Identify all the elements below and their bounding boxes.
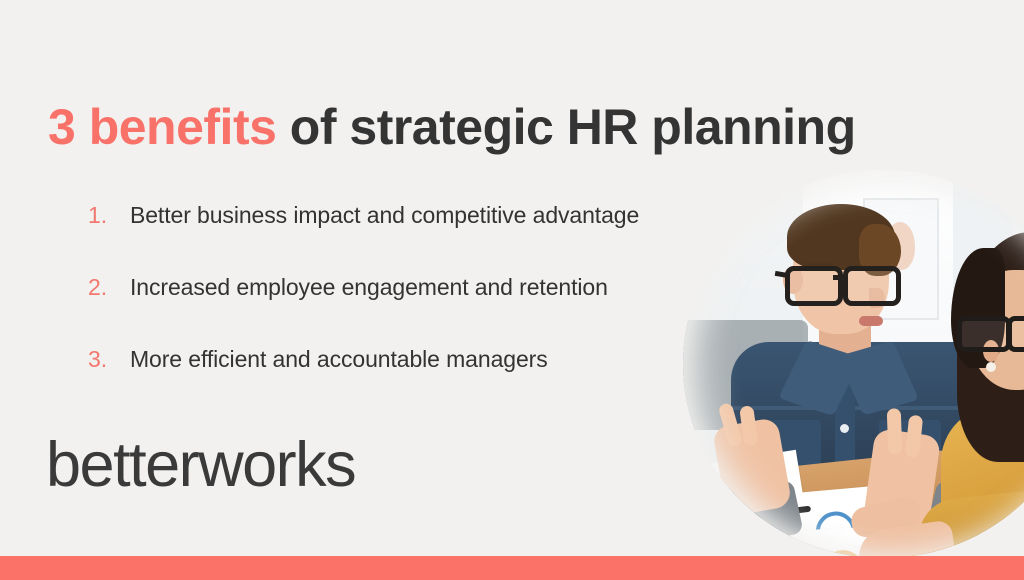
chart-bar [770,514,786,558]
chart-printout [791,521,981,558]
benefits-list: 1. Better business impact and competitiv… [48,202,639,418]
betterworks-wordmark-icon: betterworks [46,430,436,504]
list-item-label: Increased employee engagement and retent… [130,274,608,301]
chart-printout [717,485,901,558]
finger [905,415,923,458]
pen [739,506,811,521]
bottom-accent-bar [0,556,1024,580]
finger [718,402,744,448]
wall-picture-frame [863,198,939,320]
finger [739,405,758,447]
shirt-collar-right [837,340,919,415]
chart-printout [687,450,805,524]
glasses-lens-left [957,316,1011,352]
office-chair [873,385,993,515]
man-nose [869,288,885,308]
headline-plain: of strategic HR planning [276,99,855,155]
woman-arm [915,490,1024,558]
wooden-desk [683,432,1024,558]
woman-hair-front [951,248,1005,368]
man-eyebrow [803,262,833,266]
office-window [803,170,1013,420]
background-monitor [683,320,808,430]
man-denim-shirt [731,342,991,558]
photo-ellipse-mask [683,170,1024,558]
woman-neck [993,376,1024,416]
woman-eyeglasses [957,316,1024,342]
shirt-button [840,516,849,525]
shirt-pocket-right [879,420,941,472]
photo-scene [683,170,1024,558]
donut-chart [750,464,784,498]
chart-bar [726,467,741,500]
list-item: 3. More efficient and accountable manage… [88,346,639,418]
man-hair-side [859,224,901,276]
woman-mustard-top [941,406,1024,558]
man-neck [819,320,871,364]
desk-edge [683,518,1024,558]
slide-canvas: 3 benefits of strategic HR planning 1. B… [0,0,1024,580]
glasses-lens-left [785,266,843,306]
man-hand-left [712,417,793,517]
glasses-lens-right [1007,316,1024,352]
list-item: 1. Better business impact and competitiv… [88,202,639,274]
woman-face [969,270,1024,390]
list-item-label: More efficient and accountable managers [130,346,548,373]
wall-panel [953,180,1013,330]
man-eyeglasses [779,266,901,296]
chart-bar [714,483,727,502]
page-title: 3 benefits of strategic HR planning [48,100,856,155]
chart-bar [699,478,713,505]
shelf-plant [911,348,945,370]
man-mouth [859,316,883,326]
shirt-button [840,424,849,433]
rolled-sleeve-right [926,480,1012,547]
woman-hand [855,520,958,558]
man-head [793,214,889,334]
photo-edge-fade [683,170,1024,558]
list-item: 2. Increased employee engagement and ret… [88,274,639,346]
man-ear [783,266,803,294]
donut-chart [814,510,857,553]
shirt-yoke-seam [731,406,991,410]
betterworks-wordmark-text: betterworks [46,430,355,500]
list-item-label: Better business impact and competitive a… [130,202,639,229]
chart-bar [735,527,750,558]
woman-forearm [848,494,923,540]
shirt-placket [835,380,855,558]
glasses-temple [775,271,790,278]
wooden-shelf [883,365,1024,381]
man-hand-right [863,428,941,530]
meeting-photo [683,170,1024,558]
shirt-collar-left [778,340,861,416]
wooden-shelf-lower [898,382,1024,422]
list-item-number: 3. [88,346,130,373]
glasses-bridge [833,275,845,280]
shirt-pocket-left [759,420,821,472]
shirt-button [840,470,849,479]
rolled-sleeve-left [708,480,803,551]
woman-ear [983,340,999,362]
headline-accent: 3 benefits [48,99,276,155]
woman-earring [986,362,996,372]
finger [887,408,903,454]
man-hair [787,204,895,270]
glasses-lens-right [843,266,901,306]
betterworks-logo: betterworks [46,430,436,504]
woman-hair [957,232,1024,462]
list-item-number: 2. [88,274,130,301]
list-item-number: 1. [88,202,130,229]
